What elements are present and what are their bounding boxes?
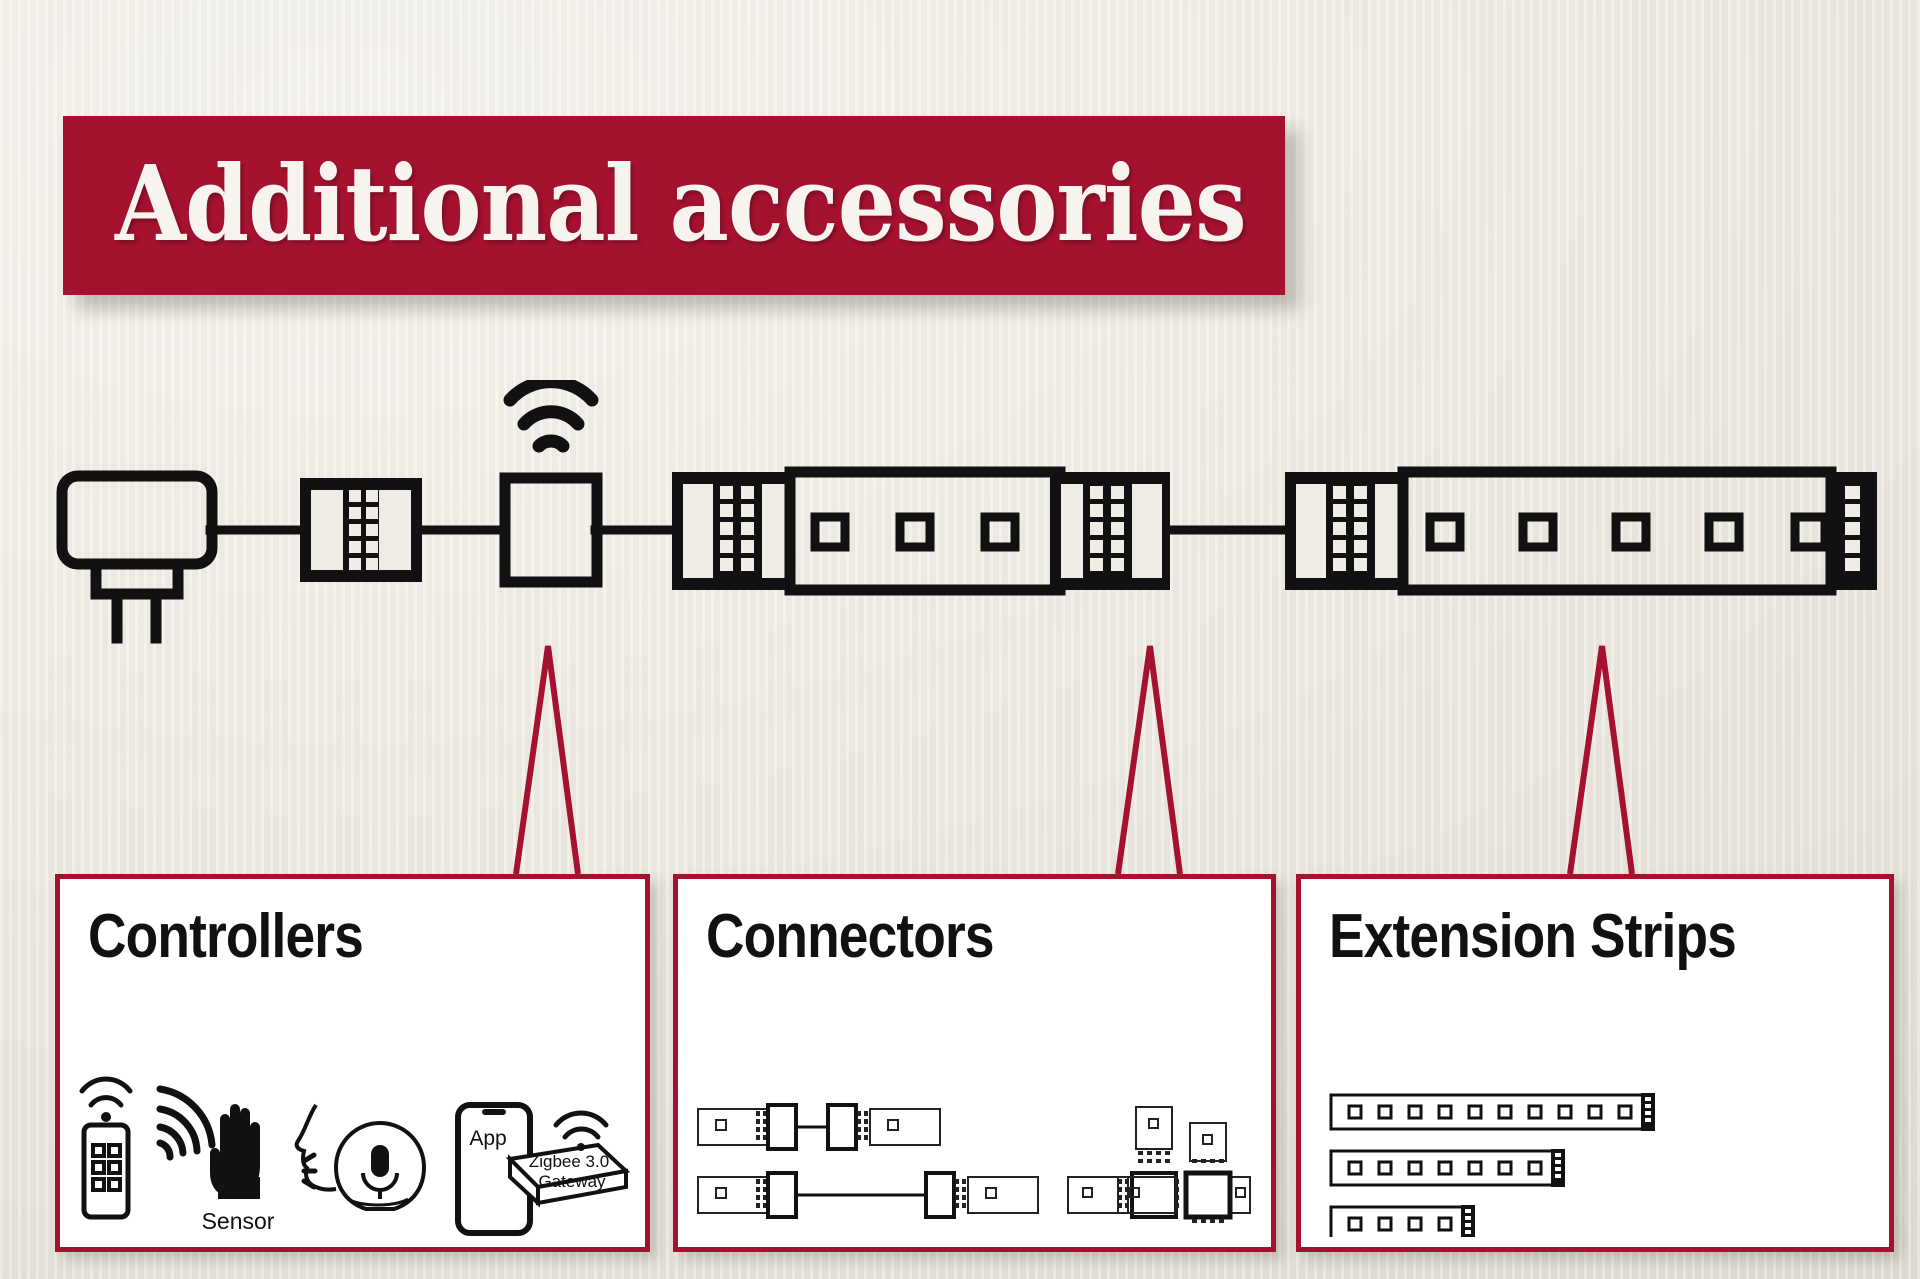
wifi-arc-outer [510, 382, 592, 400]
wifi-controller-icon [505, 382, 597, 582]
extension-strip-medium-icon [1331, 1149, 1565, 1187]
title-banner: Additional accessories [63, 116, 1285, 295]
sensor-label: Sensor [202, 1208, 275, 1234]
pointer-extension-strips [1570, 646, 1632, 874]
zigbee-label-line2: Gateway [538, 1172, 606, 1191]
led-strip-2 [1285, 472, 1877, 590]
motion-sensor-icon [160, 1089, 260, 1199]
led-dot [1795, 517, 1825, 547]
page-title: Additional accessories [115, 142, 1246, 265]
pointer-controllers [516, 646, 578, 874]
led-dot [1709, 517, 1739, 547]
wifi-arc-inner [539, 441, 563, 446]
remote-control-icon [82, 1079, 130, 1217]
led-system-diagram [0, 380, 1920, 660]
callout-title-connectors: Connectors [706, 901, 994, 972]
app-label: App [469, 1127, 506, 1150]
led-dot [815, 517, 845, 547]
connector-block-1 [300, 478, 422, 582]
voice-control-icon [297, 1105, 336, 1190]
callout-controllers[interactable]: Controllers [55, 874, 650, 1252]
led-dot [1430, 517, 1460, 547]
extension-strips-icon-row [1301, 1067, 1879, 1237]
led-dot [1523, 517, 1553, 547]
controllers-icon-row: Sensor App [60, 1067, 635, 1237]
callout-connectors[interactable]: Connectors [673, 874, 1276, 1252]
smart-speaker-icon [336, 1123, 424, 1209]
led-dot [1616, 517, 1646, 547]
wifi-arc-middle [524, 412, 578, 424]
led-strip-1 [672, 472, 1170, 590]
callout-title-controllers: Controllers [88, 901, 363, 972]
callout-title-extension-strips: Extension Strips [1329, 901, 1736, 972]
led-dot [985, 517, 1015, 547]
long-jumper-connector-icon [698, 1173, 1038, 1217]
power-supply-icon [62, 476, 212, 638]
callout-extension-strips[interactable]: Extension Strips [1296, 874, 1894, 1252]
short-jumper-connector-icon [698, 1105, 940, 1149]
extension-strip-long-icon [1331, 1093, 1655, 1131]
poster-canvas: Additional accessories [0, 0, 1920, 1279]
pointer-connectors [1118, 646, 1180, 874]
corner-l-connector-icon [1068, 1107, 1176, 1217]
extension-strip-short-icon [1331, 1205, 1475, 1237]
connectors-icon-row [678, 1067, 1261, 1237]
zigbee-label-line1: Zigbee 3.0 [529, 1152, 609, 1171]
led-dot [900, 517, 930, 547]
